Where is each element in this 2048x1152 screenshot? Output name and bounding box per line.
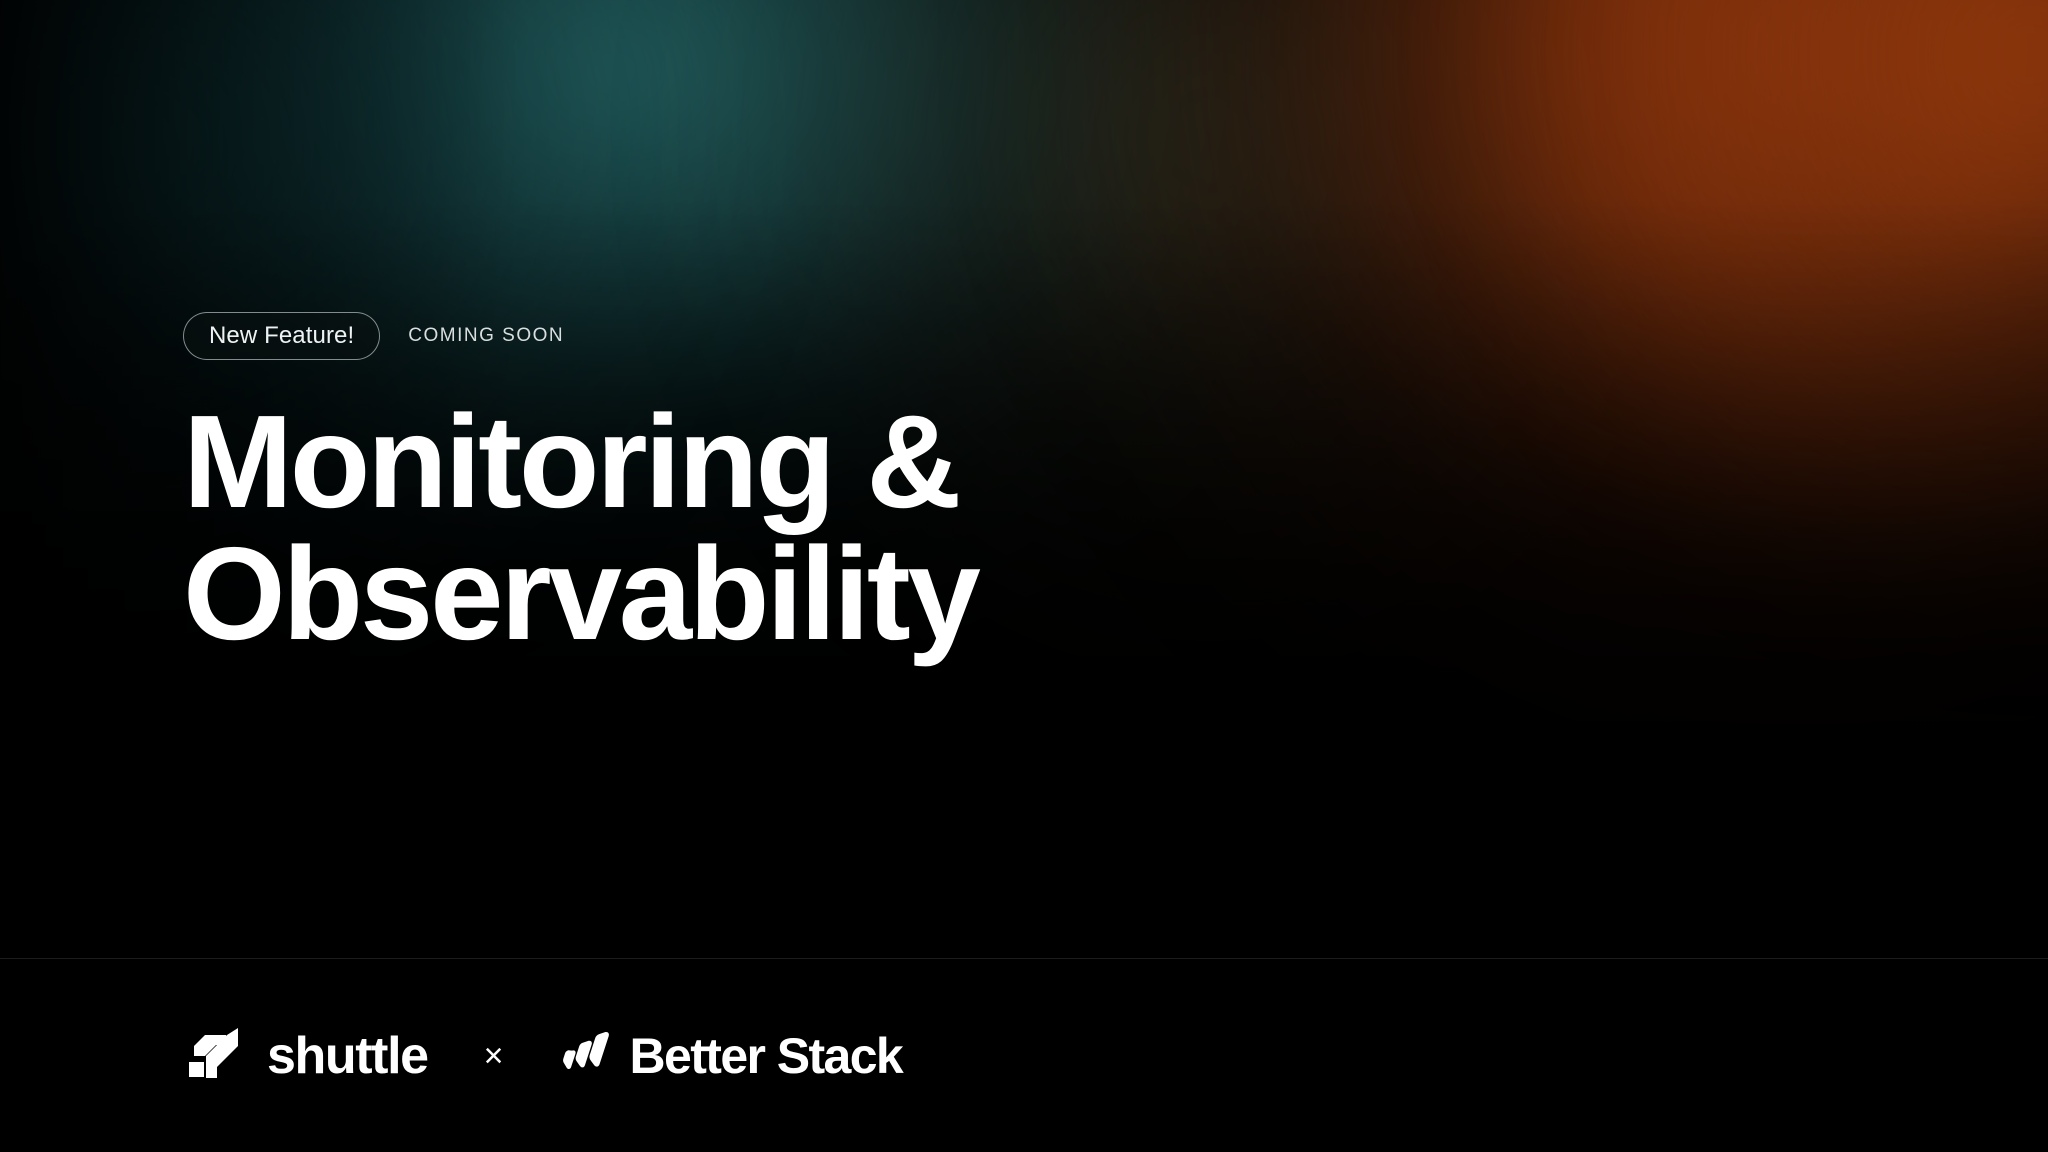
betterstack-logo-lockup[interactable]: Better Stack bbox=[560, 1030, 903, 1081]
gradient-glow-orange-edge bbox=[1480, 0, 2048, 630]
shuttle-logo-lockup[interactable]: shuttle bbox=[183, 1022, 428, 1089]
coming-soon-label: COMING SOON bbox=[408, 325, 564, 347]
brand-lockup-row: shuttle × Better Stack bbox=[183, 1022, 902, 1089]
new-feature-badge[interactable]: New Feature! bbox=[183, 312, 380, 360]
gradient-glow-orange bbox=[1010, 0, 2048, 860]
page-title-line-2: Observability bbox=[183, 528, 978, 660]
times-separator-icon: × bbox=[484, 1039, 504, 1073]
footer-bar: shuttle × Better Stack bbox=[0, 958, 2048, 1152]
eyebrow-row: New Feature! COMING SOON bbox=[183, 312, 978, 360]
betterstack-bars-icon bbox=[560, 1030, 610, 1081]
betterstack-wordmark: Better Stack bbox=[630, 1031, 903, 1081]
rocket-icon bbox=[183, 1022, 245, 1089]
hero-section: New Feature! COMING SOON Monitoring & Ob… bbox=[0, 0, 2048, 958]
hero-content: New Feature! COMING SOON Monitoring & Ob… bbox=[183, 312, 978, 660]
shuttle-wordmark: shuttle bbox=[267, 1030, 428, 1082]
page-title: Monitoring & Observability bbox=[183, 396, 978, 660]
page-root: New Feature! COMING SOON Monitoring & Ob… bbox=[0, 0, 2048, 1152]
page-title-line-1: Monitoring & bbox=[183, 396, 978, 528]
